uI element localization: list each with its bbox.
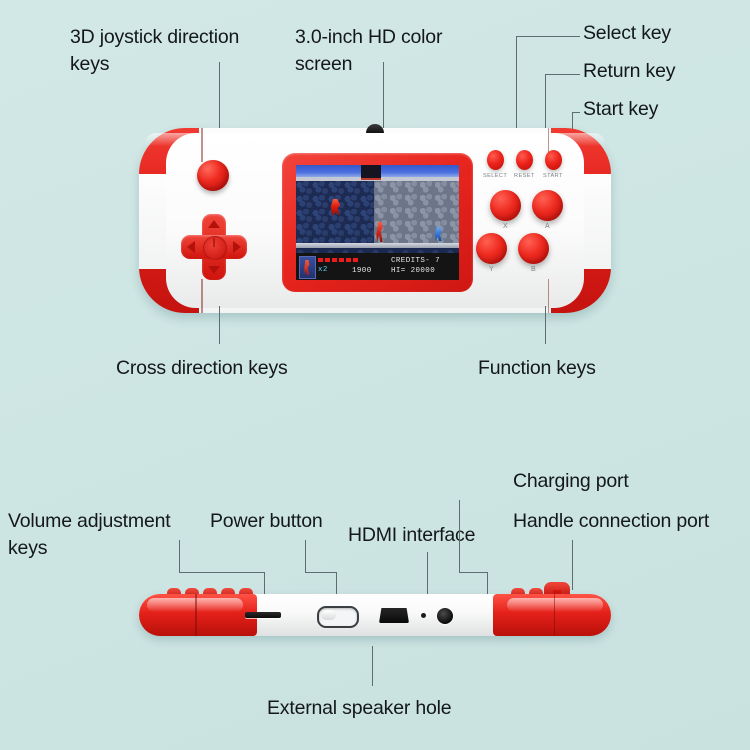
- callout-label-start-key: Start key: [583, 96, 658, 123]
- handheld-console-front: x2 1900 CREDITS- 7 HI= 20000 SELECT RESE…: [139, 128, 611, 313]
- leader-line-volume-v: [179, 540, 180, 572]
- callout-label-select-key: Select key: [583, 20, 671, 47]
- button-x-label: X: [503, 223, 508, 230]
- leader-line-dpad: [219, 306, 220, 344]
- game-hud: x2 1900 CREDITS- 7 HI= 20000: [296, 253, 459, 280]
- handheld-console-edge: [139, 586, 611, 644]
- dpad-up-arrow-icon[interactable]: [208, 220, 220, 228]
- leader-line-start-h: [572, 112, 580, 113]
- shell-seam-left-bottom: [201, 279, 203, 313]
- screen-bezel: x2 1900 CREDITS- 7 HI= 20000: [282, 153, 473, 292]
- select-button-label: SELECT: [483, 173, 507, 179]
- top-sensor: [366, 124, 384, 133]
- infographic-canvas: 3D joystick direction keys 3.0-inch HD c…: [0, 0, 750, 750]
- leader-line-power-h: [305, 572, 336, 573]
- button-y[interactable]: [476, 233, 507, 264]
- corner-gloss-top-left: [145, 133, 207, 155]
- callout-label-screen: 3.0-inch HD color screen: [295, 24, 490, 78]
- power-button[interactable]: [317, 606, 359, 628]
- reset-button-label: RESET: [514, 173, 535, 179]
- joystick-3d[interactable]: [197, 160, 229, 191]
- callout-label-hdmi: HDMI interface: [348, 522, 475, 549]
- leader-line-handle-v: [572, 540, 573, 590]
- callout-label-handle: Handle connection port: [513, 508, 709, 535]
- dpad-right-arrow-icon[interactable]: [233, 241, 241, 253]
- lcd-screen[interactable]: x2 1900 CREDITS- 7 HI= 20000: [296, 165, 459, 280]
- start-button[interactable]: [545, 150, 562, 170]
- dpad-down-arrow-icon[interactable]: [208, 266, 220, 274]
- game-doorway: [361, 165, 381, 180]
- shell-seam-right-bottom: [548, 279, 550, 313]
- leader-line-function: [545, 306, 546, 344]
- button-y-label: Y: [489, 266, 494, 273]
- leader-line-speaker: [372, 646, 373, 686]
- leader-line-charging-v: [459, 500, 460, 572]
- leader-line-return-h: [545, 74, 580, 75]
- leader-line-volume-h: [179, 572, 264, 573]
- dpad-cross[interactable]: [181, 214, 247, 280]
- callout-label-power: Power button: [210, 508, 323, 535]
- hud-score: 1900: [352, 267, 372, 275]
- callout-label-dpad: Cross direction keys: [116, 355, 288, 382]
- hud-credits: CREDITS- 7: [391, 257, 440, 265]
- callout-label-function: Function keys: [478, 355, 596, 382]
- callout-label-volume: Volume adjustment keys: [8, 508, 208, 562]
- leader-line-power-v: [305, 540, 306, 572]
- shell-seam-left: [201, 128, 203, 162]
- callout-label-charging: Charging port: [513, 468, 629, 495]
- hud-lives: x2: [318, 266, 328, 274]
- hud-high-score: HI= 20000: [391, 267, 435, 275]
- leader-line-charging-h: [459, 572, 487, 573]
- button-b-label: B: [531, 266, 536, 273]
- charging-port[interactable]: [437, 608, 453, 624]
- hud-portrait: [299, 256, 316, 279]
- dpad-center-hub: [203, 236, 227, 260]
- select-button[interactable]: [487, 150, 504, 170]
- hdmi-port[interactable]: [379, 608, 409, 623]
- callout-label-return-key: Return key: [583, 58, 675, 85]
- callout-label-joystick: 3D joystick direction keys: [70, 24, 285, 78]
- button-a-label: A: [545, 223, 550, 230]
- hud-health-bar: [318, 258, 360, 262]
- edge-gloss-right: [507, 598, 603, 612]
- external-speaker-hole: [421, 613, 426, 618]
- edge-seam-left: [195, 594, 197, 636]
- game-wall-lit: [374, 181, 459, 243]
- callout-label-speaker: External speaker hole: [267, 695, 451, 722]
- reset-button[interactable]: [516, 150, 533, 170]
- button-b[interactable]: [518, 233, 549, 264]
- button-x[interactable]: [490, 190, 521, 221]
- start-button-label: START: [543, 173, 563, 179]
- volume-adjustment-slot[interactable]: [245, 612, 281, 618]
- edge-seam-right: [554, 594, 556, 636]
- button-a[interactable]: [532, 190, 563, 221]
- dpad-left-arrow-icon[interactable]: [187, 241, 195, 253]
- leader-line-select-h: [516, 36, 580, 37]
